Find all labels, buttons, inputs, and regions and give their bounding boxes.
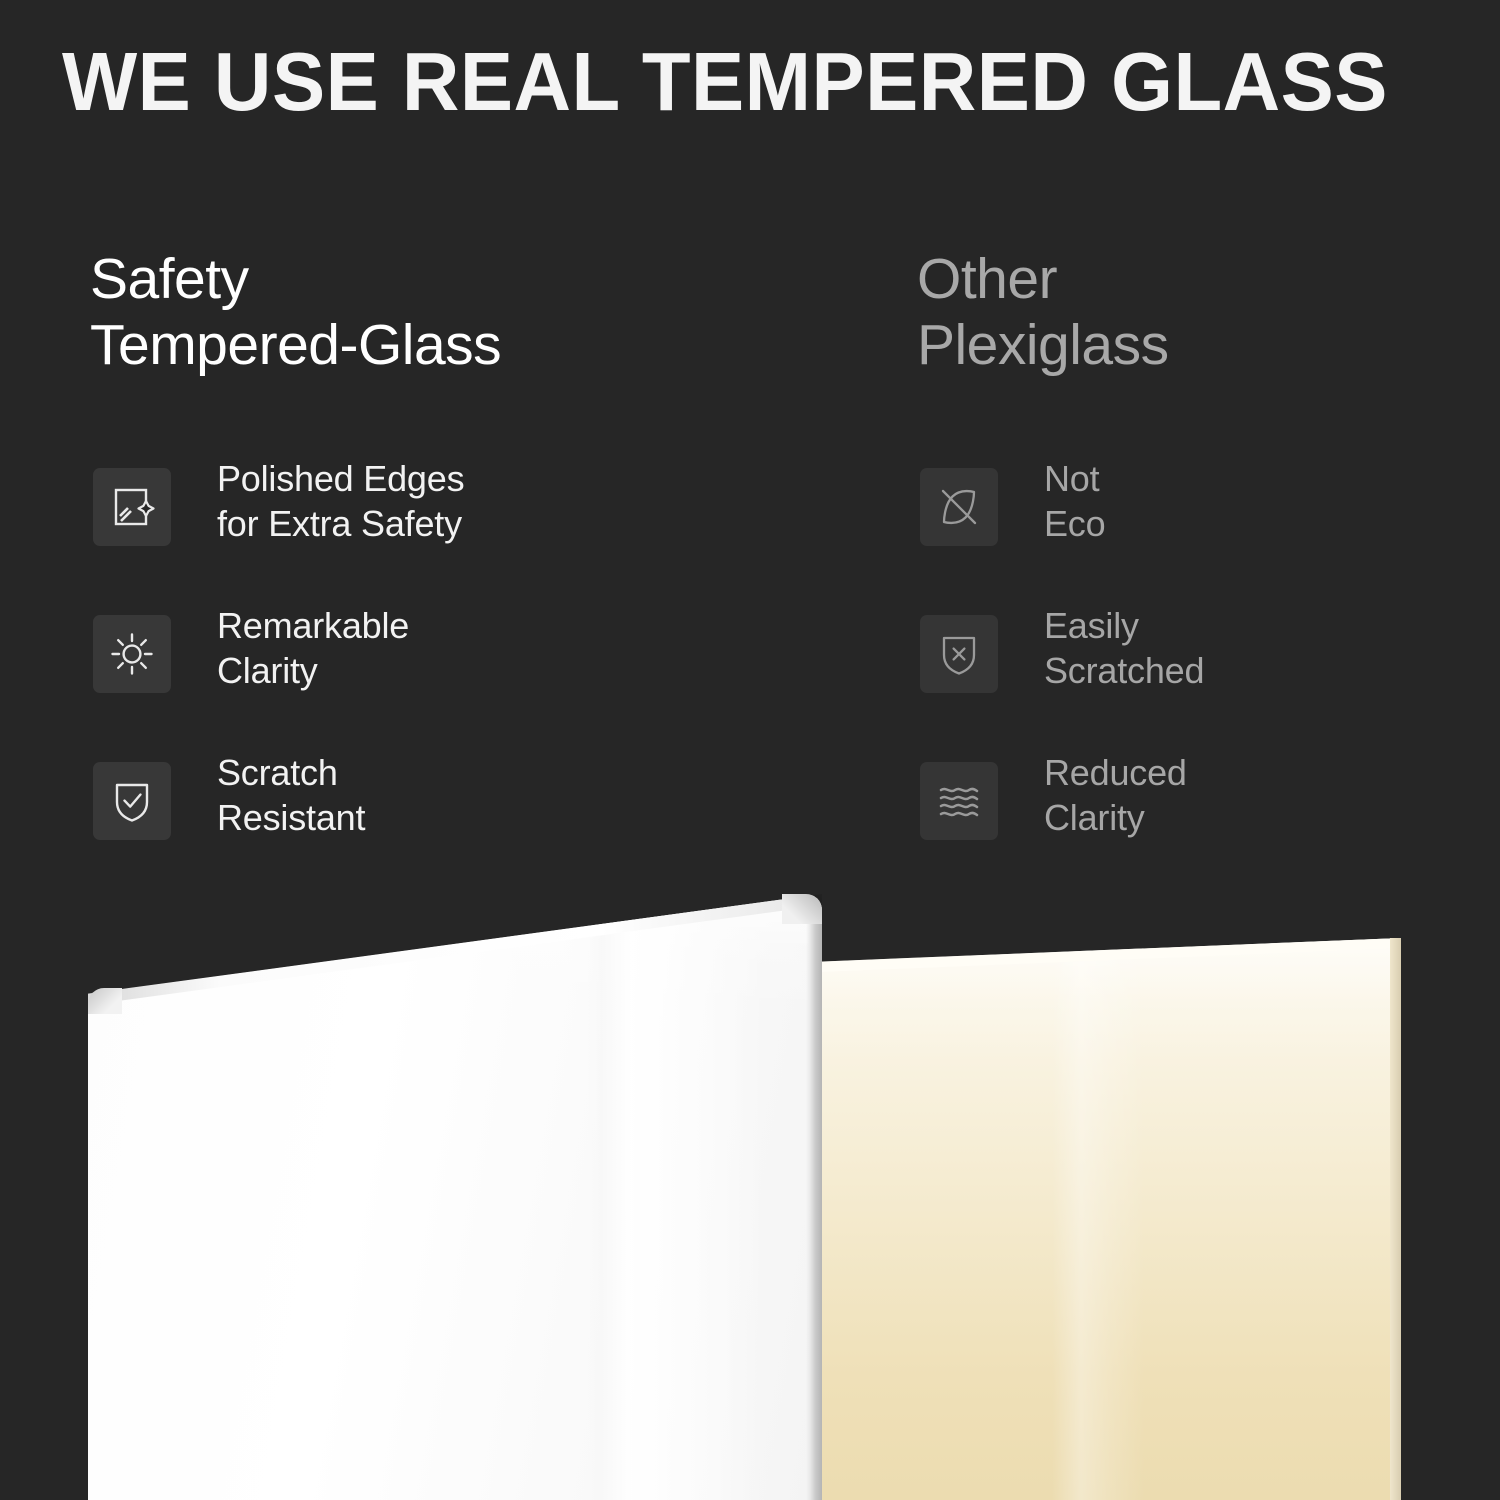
feature-label-remarkable-clarity: Remarkable Clarity [217, 603, 409, 694]
feature-label-polished-edges: Polished Edges for Extra Safety [217, 456, 464, 547]
wavy-lines-distortion-icon [920, 762, 998, 840]
feature-label-easily-scratched: Easily Scratched [1044, 603, 1204, 694]
feature-label-scratch-resistant: Scratch Resistant [217, 750, 365, 841]
tempered-glass-right-edge [806, 904, 822, 1500]
tempered-glass-corner-top-left [88, 988, 122, 1014]
column-other-plexiglass: Other Plexiglass Not Eco [917, 246, 1477, 378]
column-heading-other-plexiglass: Other Plexiglass [917, 246, 1477, 378]
feature-label-not-eco: Not Eco [1044, 456, 1105, 547]
shield-x-icon [920, 615, 998, 693]
comparison-infographic: WE USE REAL TEMPERED GLASS Safety Temper… [0, 0, 1500, 1500]
column-heading-safety-tempered-glass: Safety Tempered-Glass [90, 246, 850, 378]
feature-row-polished-edges: Polished Edges for Extra Safety [93, 468, 853, 615]
feature-label-reduced-clarity: Reduced Clarity [1044, 750, 1187, 841]
page-title: WE USE REAL TEMPERED GLASS [62, 40, 1396, 123]
tempered-glass-corner-top-right [782, 894, 822, 924]
feature-row-easily-scratched: Easily Scratched [920, 615, 1480, 762]
feature-list-other-plexiglass: Not Eco Easily Scratched [920, 468, 1480, 909]
feature-row-not-eco: Not Eco [920, 468, 1480, 615]
feature-row-remarkable-clarity: Remarkable Clarity [93, 615, 853, 762]
leaf-slash-not-eco-icon [920, 468, 998, 546]
polished-glass-sparkle-icon [93, 468, 171, 546]
plexiglass-right-edge [1390, 938, 1401, 1500]
plexiglass-reflection [820, 938, 1400, 1500]
column-safety-tempered-glass: Safety Tempered-Glass Polished Edges for… [90, 246, 850, 378]
shield-check-icon [93, 762, 171, 840]
feature-list-safety-tempered-glass: Polished Edges for Extra Safety Remarkab… [93, 468, 853, 909]
sun-clarity-icon [93, 615, 171, 693]
product-visual [0, 860, 1500, 1500]
